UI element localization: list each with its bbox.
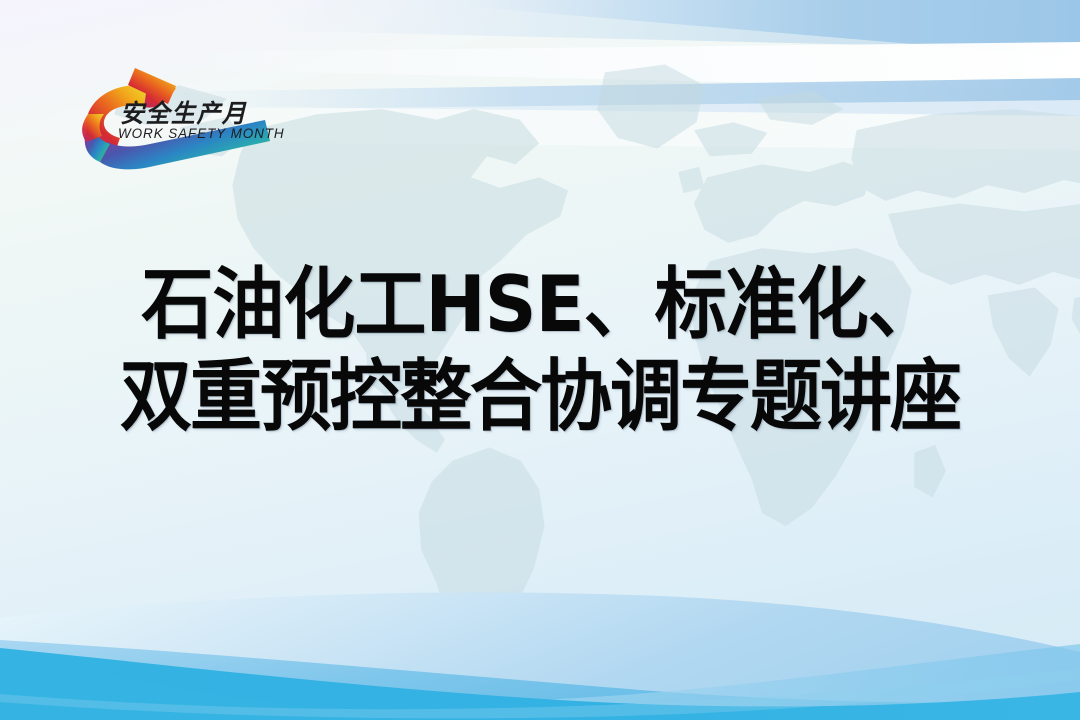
title-line-1: 石油化工HSE、标准化、 <box>0 254 1080 353</box>
logo-chinese-text: 安全生产月 <box>120 94 247 130</box>
poster-canvas: 安全生产月 WORK SAFETY MONTH 石油化工HSE、标准化、 双重预… <box>0 0 1080 720</box>
title-line-2: 双重预控整合协调专题讲座 <box>0 346 1080 445</box>
work-safety-month-logo: 安全生产月 WORK SAFETY MONTH <box>72 58 287 183</box>
page-title: 石油化工HSE、标准化、 双重预控整合协调专题讲座 <box>0 258 1080 442</box>
logo-english-text: WORK SAFETY MONTH <box>118 126 285 141</box>
